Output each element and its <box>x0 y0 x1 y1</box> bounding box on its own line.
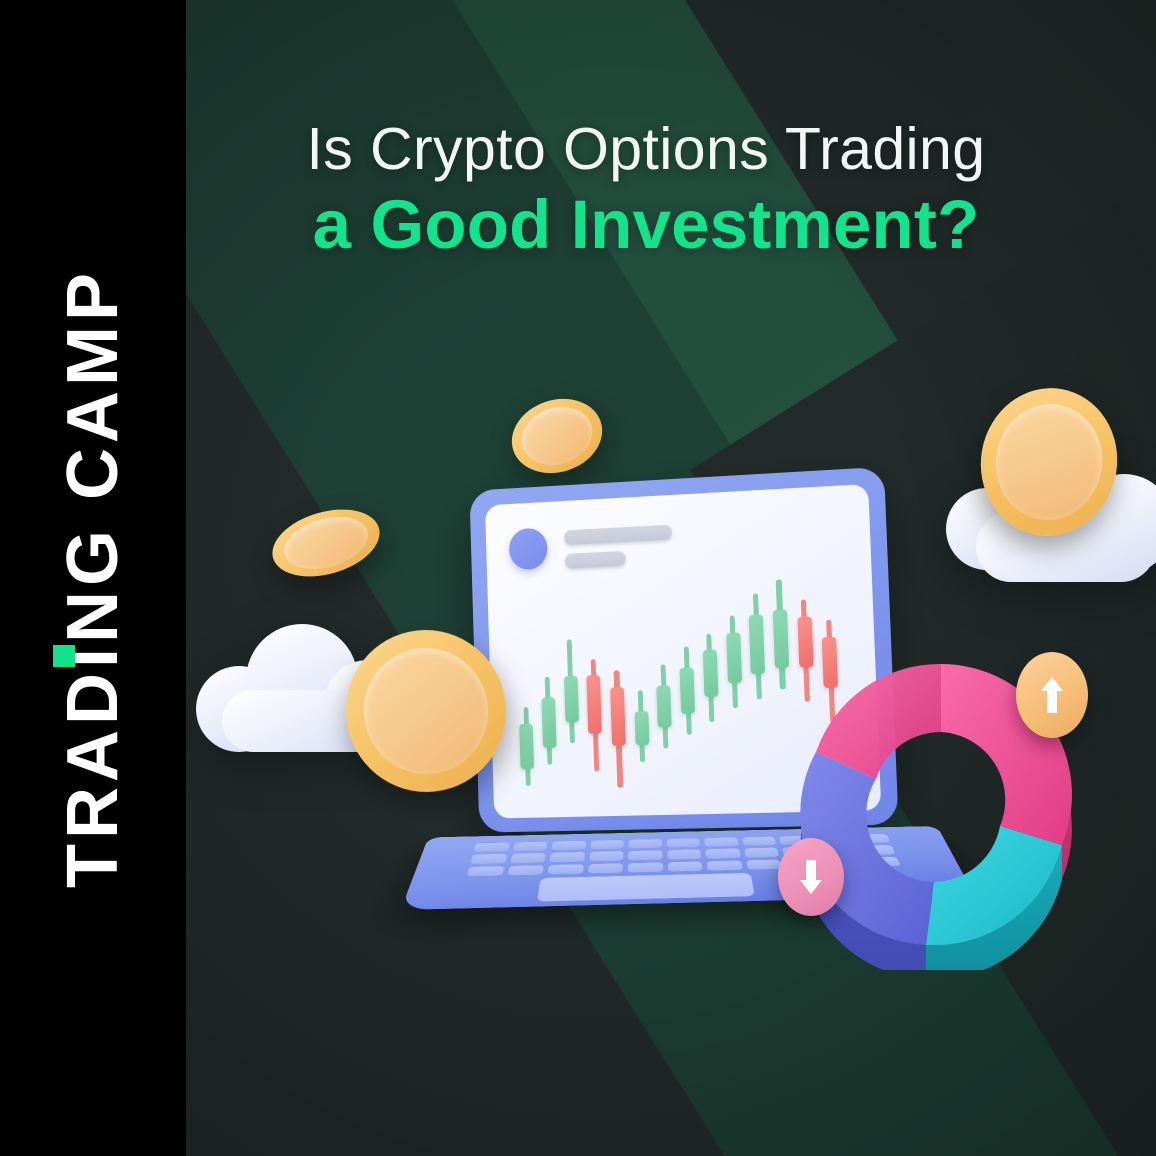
brand-accent-dot-icon <box>53 645 75 667</box>
screen-text-placeholder-long <box>564 525 672 545</box>
candle-body <box>657 685 672 727</box>
keyboard-key <box>474 843 510 853</box>
down-arrow-badge <box>778 838 844 916</box>
headline-line-2: a Good Investment? <box>186 186 1106 263</box>
candle <box>724 577 746 789</box>
candle <box>630 582 651 792</box>
keyboard-key <box>590 840 624 850</box>
keyboard-key <box>704 837 738 846</box>
candle-body <box>634 711 649 745</box>
headline-block: Is Crypto Options Trading a Good Investm… <box>186 118 1106 263</box>
keyboard-key <box>466 866 504 876</box>
keyboard-key <box>667 838 701 847</box>
candle-body <box>587 675 603 734</box>
keyboard-key <box>668 861 703 871</box>
candle-body <box>726 632 742 683</box>
screen-avatar-placeholder <box>509 527 549 570</box>
candle-body <box>680 668 696 715</box>
keyboard-key <box>588 863 623 873</box>
candle-body <box>610 687 626 746</box>
keyboard-key <box>706 849 741 859</box>
candle-body <box>749 614 765 674</box>
candle <box>561 585 581 793</box>
candle <box>748 576 770 788</box>
candle <box>538 586 558 794</box>
candle <box>677 580 698 791</box>
keyboard-key <box>549 852 584 862</box>
candle <box>607 583 628 792</box>
coin-left-upper <box>265 498 388 588</box>
keyboard-key <box>628 839 662 849</box>
keyboard-key <box>589 851 624 861</box>
keyboard-key <box>547 864 583 874</box>
candle <box>584 584 604 793</box>
keyboard-key <box>470 854 507 864</box>
screen-text-placeholder-short <box>565 551 626 569</box>
keyboard-key <box>628 862 663 872</box>
brand-sidebar: TRADING CAMP <box>0 0 186 1156</box>
candle <box>700 578 722 789</box>
laptop-trackpad <box>537 873 755 902</box>
candle-body <box>541 698 556 748</box>
keyboard-key <box>667 849 702 859</box>
keyboard-key <box>744 848 780 858</box>
candle <box>515 587 535 794</box>
keyboard-key <box>551 841 586 851</box>
arrow-down-icon <box>799 858 823 896</box>
keyboard-key <box>707 860 743 870</box>
brand-wordmark: TRADING CAMP <box>57 268 129 888</box>
coin-top-center <box>502 388 612 485</box>
keyboard-key <box>510 853 546 863</box>
candle-body <box>519 723 534 769</box>
social-post-card: TRADING CAMP Is Crypto Options Trading a… <box>0 0 1156 1156</box>
candle-body <box>564 676 579 722</box>
keyboard-key <box>742 836 777 845</box>
candle-body <box>703 650 719 697</box>
keyboard-key <box>507 865 544 875</box>
keyboard-key <box>628 850 662 860</box>
brand-wordmark-text: TRADING CAMP <box>53 268 133 888</box>
keyboard-key <box>512 842 547 852</box>
candle <box>653 581 674 791</box>
headline-line-1: Is Crypto Options Trading <box>186 118 1106 182</box>
